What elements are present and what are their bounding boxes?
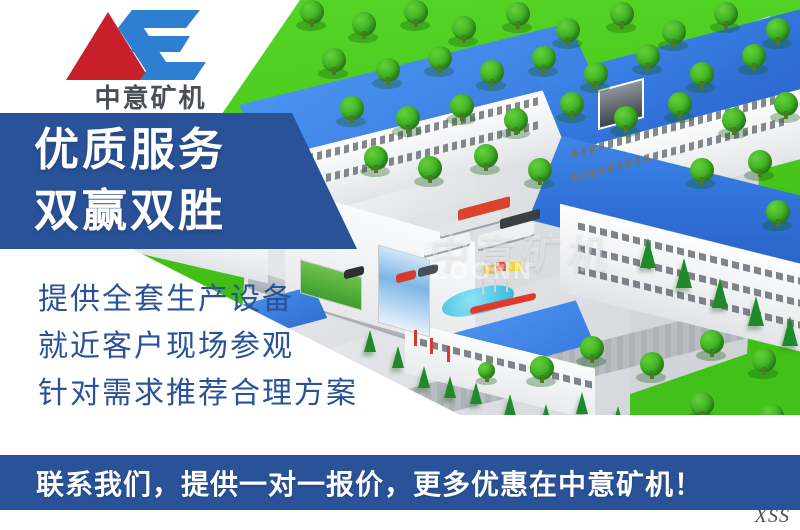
logo-wordmark: 中意矿机 xyxy=(63,78,238,115)
cta-text: 联系我们，提供一对一报价，更多优惠在中意矿机！ xyxy=(36,463,703,503)
photo-watermark-sub: ZOONN xyxy=(432,258,534,286)
conifer-tree xyxy=(576,392,588,414)
company-logo: 中意矿机 xyxy=(60,6,235,114)
corner-watermark: XSS xyxy=(755,505,790,528)
feature-item-2: 就近客户现场参观 xyxy=(38,323,438,370)
safety-post xyxy=(447,346,450,362)
headline-line-1: 优质服务 xyxy=(34,119,334,180)
conifer-tree xyxy=(712,278,728,308)
conifer-tree xyxy=(782,316,798,346)
feature-item-1: 提供全套生产设备 xyxy=(38,276,438,323)
promo-poster: 中意矿机 ZOONN 中意矿机 优质服务 双赢双胜 提供全套生产设备 就近客户现… xyxy=(0,0,800,530)
feature-list: 提供全套生产设备 就近客户现场参观 针对需求推荐合理方案 xyxy=(38,276,438,417)
conifer-tree xyxy=(504,394,516,416)
ae-monogram-logo xyxy=(60,6,235,84)
conifer-tree xyxy=(444,376,456,398)
conifer-tree xyxy=(748,296,764,326)
conifer-tree xyxy=(676,258,692,288)
conifer-tree xyxy=(640,238,656,268)
cta-bottom-bar[interactable]: 联系我们，提供一对一报价，更多优惠在中意矿机！ xyxy=(0,455,800,510)
headline-text-block: 优质服务 双赢双胜 xyxy=(34,119,334,241)
headline-line-2: 双赢双胜 xyxy=(34,180,334,241)
conifer-tree xyxy=(470,382,482,404)
feature-item-3: 针对需求推荐合理方案 xyxy=(38,370,438,417)
